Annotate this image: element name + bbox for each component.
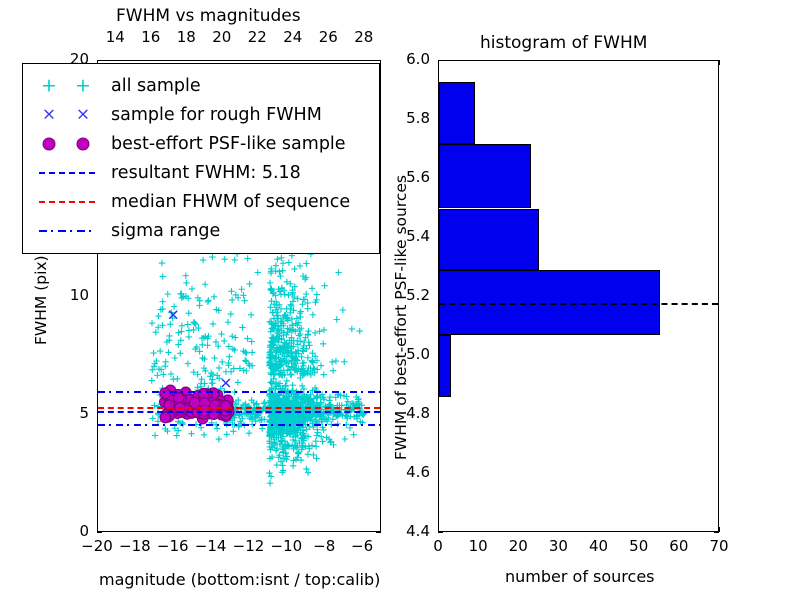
legend-item-0: ++all sample [31, 71, 369, 100]
reference-line-median-fhwm-of-sequence [98, 407, 380, 409]
y-tick-label: 5 [61, 404, 89, 422]
top-tick-label: 28 [354, 28, 372, 46]
hist-y-axis-tick [438, 532, 443, 533]
top-tick-label: 16 [141, 28, 159, 46]
legend-marker-circle-icon [31, 129, 109, 158]
hist-x-tick-label: 60 [663, 537, 695, 555]
hist-y-tick-label: 4.4 [394, 522, 430, 540]
legend-line-glyph [39, 172, 95, 174]
legend-label: best-effort PSF-like sample [109, 134, 346, 154]
legend-item-4: median FHWM of sequence [31, 187, 369, 216]
scatter-legend: ++all sample××sample for rough FWHMbest-… [22, 63, 380, 254]
legend-item-1: ××sample for rough FWHM [31, 100, 369, 129]
hist-axis-tick [719, 527, 720, 532]
bottom-tick-label: −10 [268, 537, 304, 555]
histogram-bar [439, 335, 451, 397]
top-tick-label: 24 [283, 28, 301, 46]
hist-y-tick-label: 5.4 [394, 227, 430, 245]
reference-line-sigma-range-upper [98, 391, 380, 393]
hist-y-tick-label: 5.2 [394, 286, 430, 304]
bottom-tick-label: −14 [193, 537, 229, 555]
reference-line-resultant-fwhm [98, 411, 380, 413]
bottom-tick-label: −18 [117, 537, 153, 555]
legend-marker-plus-icon: ++ [31, 71, 109, 100]
hist-y-tick-label: 4.6 [394, 463, 430, 481]
bottom-tick-label: −12 [230, 537, 266, 555]
hist-y-tick-label: 5.8 [394, 109, 430, 127]
legend-label: all sample [109, 76, 201, 96]
legend-marker-dashed-line-icon [31, 158, 109, 187]
hist-x-tick-label: 10 [462, 537, 494, 555]
legend-item-2: best-effort PSF-like sample [31, 129, 369, 158]
hist-y-tick-label: 5.6 [394, 168, 430, 186]
legend-plus-glyph: + [75, 76, 91, 95]
y-axis-tick [97, 532, 102, 533]
hist-y-tick-label: 5.0 [394, 345, 430, 363]
histogram-median-line [439, 303, 718, 305]
bottom-tick-label: −8 [306, 537, 342, 555]
hist-x-tick-label: 20 [502, 537, 534, 555]
histogram-title: histogram of FWHM [480, 33, 647, 53]
top-tick-label: 22 [248, 28, 266, 46]
bottom-tick-label: −16 [155, 537, 191, 555]
top-tick-label: 14 [106, 28, 124, 46]
hist-y-axis-tick [714, 532, 719, 533]
scatter-plot-title: FWHM vs magnitudes [116, 6, 301, 26]
figure-canvas: FWHM vs magnitudes 1416182022242628 −20−… [0, 0, 800, 600]
reference-line-sigma-range-lower [98, 424, 380, 426]
legend-label: median FHWM of sequence [109, 192, 350, 212]
top-tick-label: 18 [177, 28, 195, 46]
scatter-y-axis-label: FWHM (pix) [32, 255, 50, 345]
legend-line-glyph [39, 230, 95, 232]
y-tick-label: 10 [61, 286, 89, 304]
histogram-bar [439, 144, 531, 209]
hist-y-tick-label: 6.0 [394, 50, 430, 68]
legend-plus-glyph: + [41, 76, 57, 95]
legend-label: resultant FWHM: 5.18 [109, 163, 301, 183]
legend-cross-glyph: × [42, 106, 56, 123]
hist-x-tick-label: 30 [542, 537, 574, 555]
top-tick-label: 20 [212, 28, 230, 46]
hist-y-tick-label: 4.8 [394, 404, 430, 422]
hist-x-tick-label: 50 [623, 537, 655, 555]
histogram-bar [439, 209, 539, 271]
legend-label: sigma range [109, 221, 220, 241]
y-tick-label: 0 [61, 522, 89, 540]
legend-marker-dashdot-line-icon [31, 216, 109, 245]
histogram-bar [439, 82, 475, 144]
y-axis-tick [376, 532, 381, 533]
legend-circle-glyph [43, 137, 56, 150]
hist-x-tick-label: 40 [583, 537, 615, 555]
legend-marker-cross-icon: ×× [31, 100, 109, 129]
bottom-tick-label: −6 [344, 537, 380, 555]
histogram-plot-area[interactable] [438, 60, 719, 532]
legend-marker-dashed-line-icon [31, 187, 109, 216]
legend-item-3: resultant FWHM: 5.18 [31, 158, 369, 187]
legend-circle-glyph [77, 137, 90, 150]
legend-item-5: sigma range [31, 216, 369, 245]
histogram-x-axis-label: number of sources [505, 567, 655, 586]
hist-x-tick-label: 70 [703, 537, 735, 555]
hist-axis-tick [719, 60, 720, 65]
scatter-x-axis-label: magnitude (bottom:isnt / top:calib) [99, 570, 380, 589]
legend-label: sample for rough FWHM [109, 105, 322, 125]
legend-line-glyph [39, 201, 95, 203]
top-tick-label: 26 [319, 28, 337, 46]
legend-cross-glyph: × [76, 106, 90, 123]
